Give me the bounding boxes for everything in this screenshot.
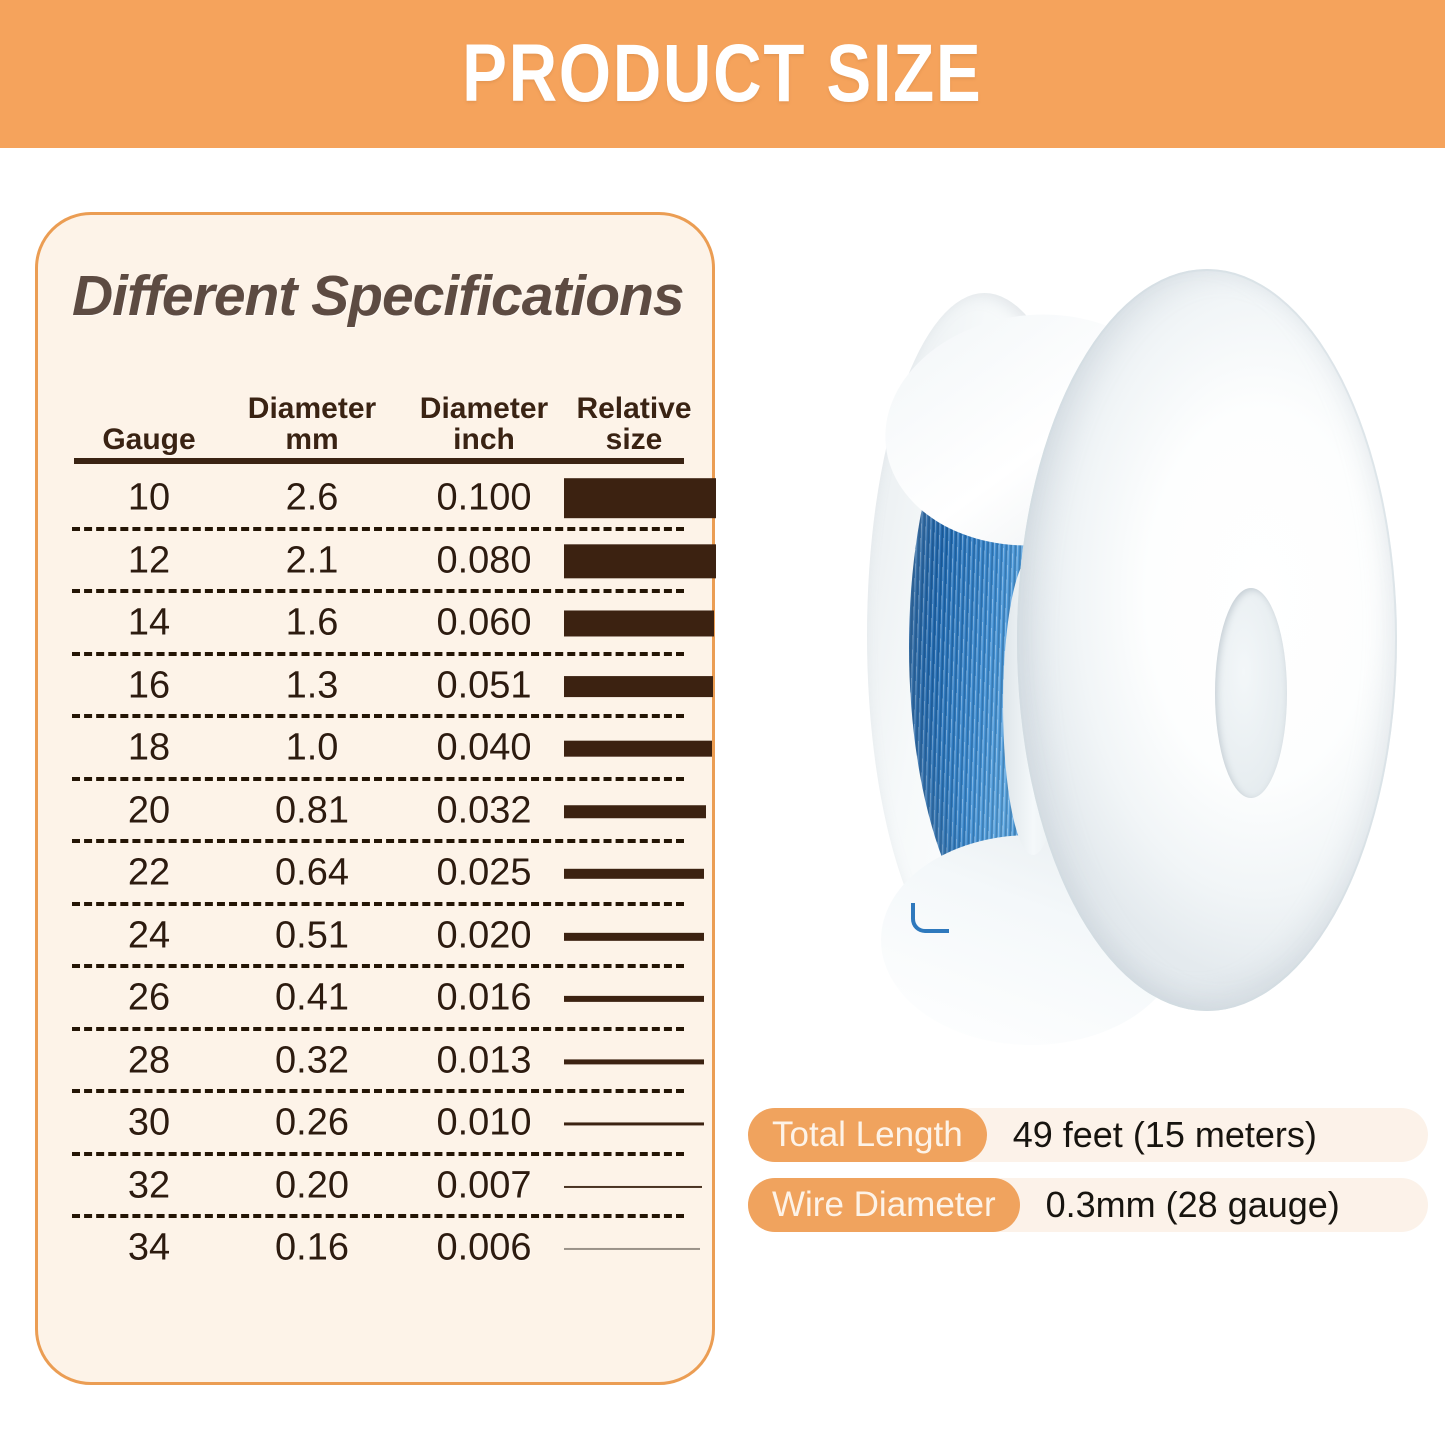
table-row: 122.10.080: [72, 531, 684, 594]
relative-size-bar: [564, 933, 704, 941]
cell-diameter-inch: 0.006: [394, 1227, 574, 1270]
column-header-relative-size: Relative size: [564, 393, 704, 455]
cell-diameter-mm: 0.20: [222, 1164, 402, 1207]
cell-diameter-mm: 1.0: [222, 727, 402, 770]
relative-size-bar: [564, 1059, 704, 1064]
cell-diameter-inch: 0.010: [394, 1102, 574, 1145]
cell-relative-size: [564, 869, 722, 879]
cell-diameter-mm: 0.26: [222, 1102, 402, 1145]
cell-relative-size: [564, 676, 722, 697]
cell-relative-size: [564, 1059, 722, 1064]
relative-size-bar: [564, 1186, 702, 1188]
spec-badge-value: 49 feet (15 meters): [1013, 1114, 1317, 1156]
cell-diameter-mm: 1.6: [222, 602, 402, 645]
table-row: 240.510.020: [72, 906, 684, 969]
cell-diameter-inch: 0.051: [394, 664, 574, 707]
relative-size-bar: [564, 1248, 700, 1250]
cell-diameter-mm: 0.81: [222, 789, 402, 832]
cell-relative-size: [564, 1123, 722, 1126]
wire-loose-end: [911, 903, 949, 933]
cell-diameter-inch: 0.080: [394, 539, 574, 582]
cell-diameter-mm: 0.64: [222, 852, 402, 895]
table-header-rule: [74, 458, 684, 464]
page-title: PRODUCT SIZE: [462, 27, 982, 121]
table-row: 340.160.006: [72, 1218, 684, 1281]
product-photo: [845, 255, 1405, 1015]
column-header-relative-size-line2: size: [564, 424, 704, 455]
column-header-gauge-line1: Gauge: [74, 424, 224, 455]
cell-diameter-mm: 2.6: [222, 477, 402, 520]
card-title: Different Specifications: [72, 263, 684, 329]
table-row: 141.60.060: [72, 593, 684, 656]
cell-gauge: 26: [74, 977, 224, 1020]
cell-gauge: 16: [74, 664, 224, 707]
relative-size-bar: [564, 741, 712, 757]
relative-size-bar: [564, 805, 706, 818]
cell-relative-size: [564, 933, 722, 941]
relative-size-bar: [564, 676, 713, 697]
cell-diameter-inch: 0.013: [394, 1039, 574, 1082]
column-header-diameter-inch: Diameter inch: [394, 393, 574, 455]
cell-gauge: 14: [74, 602, 224, 645]
table-row: 300.260.010: [72, 1093, 684, 1156]
wire-spool-illustration: [845, 255, 1405, 1015]
cell-relative-size: [564, 544, 722, 578]
column-header-diameter-inch-line2: inch: [394, 424, 574, 455]
cell-relative-size: [564, 611, 722, 637]
cell-relative-size: [564, 741, 722, 757]
relative-size-bar: [564, 478, 716, 518]
cell-gauge: 30: [74, 1102, 224, 1145]
header-banner: PRODUCT SIZE: [0, 0, 1445, 148]
cell-diameter-inch: 0.060: [394, 602, 574, 645]
table-row: 181.00.040: [72, 718, 684, 781]
cell-diameter-mm: 1.3: [222, 664, 402, 707]
cell-gauge: 28: [74, 1039, 224, 1082]
cell-gauge: 18: [74, 727, 224, 770]
relative-size-bar: [564, 996, 704, 1002]
cell-gauge: 12: [74, 539, 224, 582]
cell-diameter-mm: 0.32: [222, 1039, 402, 1082]
table-row: 220.640.025: [72, 843, 684, 906]
cell-diameter-inch: 0.016: [394, 977, 574, 1020]
column-header-gauge: Gauge: [74, 424, 224, 455]
relative-size-bar: [564, 544, 716, 578]
table-row: 280.320.013: [72, 1031, 684, 1094]
cell-gauge: 20: [74, 789, 224, 832]
table-row: 102.60.100: [72, 468, 684, 531]
cell-gauge: 24: [74, 914, 224, 957]
table-row: 161.30.051: [72, 656, 684, 719]
cell-diameter-inch: 0.020: [394, 914, 574, 957]
cell-diameter-inch: 0.007: [394, 1164, 574, 1207]
spec-badge-value: 0.3mm (28 gauge): [1046, 1184, 1340, 1226]
relative-size-bar: [564, 1123, 704, 1126]
cell-relative-size: [564, 996, 722, 1002]
cell-diameter-mm: 0.16: [222, 1227, 402, 1270]
cell-diameter-mm: 0.51: [222, 914, 402, 957]
spec-badge-label: Total Length: [748, 1108, 987, 1162]
relative-size-bar: [564, 869, 704, 879]
cell-diameter-inch: 0.032: [394, 789, 574, 832]
cell-diameter-inch: 0.025: [394, 852, 574, 895]
specifications-card: Different Specifications Gauge Diameter …: [35, 212, 715, 1385]
cell-gauge: 10: [74, 477, 224, 520]
gauge-specification-table: Gauge Diameter mm Diameter inch Relative…: [72, 370, 684, 455]
table-row: 320.200.007: [72, 1156, 684, 1219]
spec-badge-label: Wire Diameter: [748, 1178, 1020, 1232]
cell-gauge: 22: [74, 852, 224, 895]
cell-diameter-inch: 0.100: [394, 477, 574, 520]
product-spec-badges: Total Length49 feet (15 meters)Wire Diam…: [748, 1108, 1428, 1248]
cell-gauge: 34: [74, 1227, 224, 1270]
column-header-diameter-mm: Diameter mm: [222, 393, 402, 455]
spec-badge-row: Total Length49 feet (15 meters): [748, 1108, 1428, 1162]
column-header-relative-size-line1: Relative: [564, 393, 704, 424]
cell-diameter-mm: 2.1: [222, 539, 402, 582]
cell-gauge: 32: [74, 1164, 224, 1207]
cell-relative-size: [564, 1186, 722, 1188]
cell-relative-size: [564, 478, 722, 518]
cell-diameter-inch: 0.040: [394, 727, 574, 770]
cell-relative-size: [564, 1248, 722, 1250]
table-row: 260.410.016: [72, 968, 684, 1031]
spec-badge-row: Wire Diameter0.3mm (28 gauge): [748, 1178, 1428, 1232]
column-header-diameter-inch-line1: Diameter: [394, 393, 574, 424]
column-header-diameter-mm-line1: Diameter: [222, 393, 402, 424]
cell-relative-size: [564, 805, 722, 818]
column-header-diameter-mm-line2: mm: [222, 424, 402, 455]
relative-size-bar: [564, 611, 714, 637]
table-body: 102.60.100122.10.080141.60.060161.30.051…: [72, 468, 684, 1281]
cell-diameter-mm: 0.41: [222, 977, 402, 1020]
table-header-row: Gauge Diameter mm Diameter inch Relative…: [72, 370, 684, 455]
spool-front-flange-edge: [1017, 269, 1397, 1011]
table-row: 200.810.032: [72, 781, 684, 844]
